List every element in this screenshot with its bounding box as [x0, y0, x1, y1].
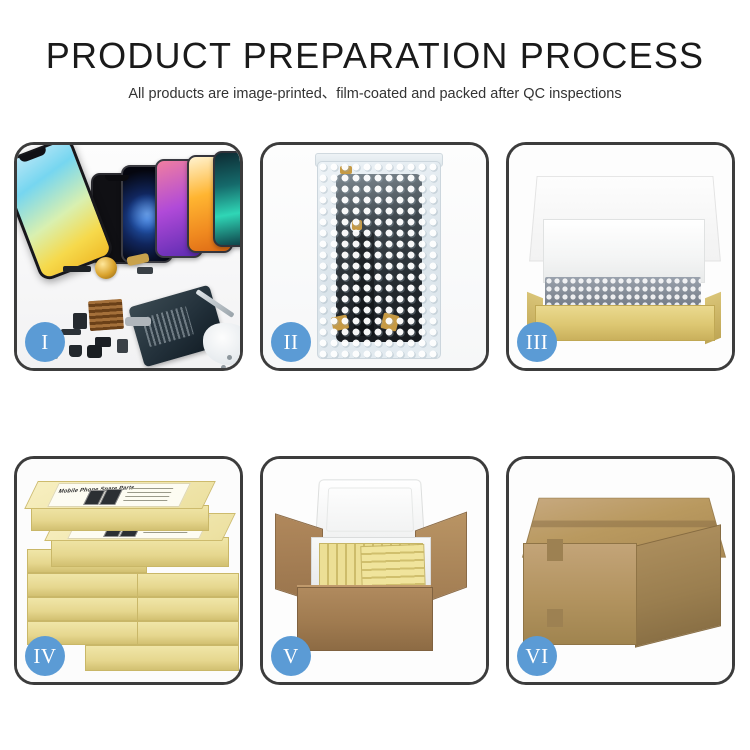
- retail-box-label-1: Mobile Phone Spare Parts: [47, 483, 191, 507]
- carton-front-panel: [297, 587, 433, 651]
- page-title: PRODUCT PREPARATION PROCESS: [0, 36, 750, 76]
- spare-part-taptic-engine: [87, 345, 102, 358]
- carton-front-face: [523, 543, 637, 645]
- page-header: PRODUCT PREPARATION PROCESS All products…: [0, 0, 750, 104]
- step-badge-4: IV: [25, 636, 65, 676]
- box-front-yellow: [535, 305, 715, 341]
- step-badge-2: II: [271, 322, 311, 362]
- step-badge-1: I: [25, 322, 65, 362]
- carton-tape-upper: [547, 539, 563, 561]
- process-step-panel-5[interactable]: V: [260, 456, 489, 685]
- spare-part-connector: [137, 267, 153, 274]
- process-step-panel-3[interactable]: III: [506, 142, 735, 371]
- spare-part-silver-bracket: [125, 317, 151, 326]
- step-badge-5: V: [271, 636, 311, 676]
- page-subtitle: All products are image-printed、film-coat…: [0, 86, 750, 103]
- spare-part-chip-grid: [88, 299, 124, 331]
- process-step-panel-2[interactable]: II: [260, 142, 489, 371]
- spare-part-camera-ring: [69, 345, 82, 357]
- bubble-wrap-bag-image: [317, 161, 441, 359]
- lcd-connector-top: [340, 166, 352, 174]
- carton-tape-lower: [547, 609, 563, 627]
- foam-sheet-white: [543, 219, 705, 283]
- foam-lid-white: [315, 479, 425, 543]
- step-badge-3: III: [517, 322, 557, 362]
- process-step-grid: I II III: [14, 142, 736, 732]
- process-step-panel-4[interactable]: Mobile Phone Spare Parts Mobile Phone Sp…: [14, 456, 243, 685]
- spare-part-strip: [63, 266, 91, 272]
- process-step-panel-1[interactable]: I: [14, 142, 243, 371]
- lcd-screen-image: [336, 174, 422, 342]
- spare-part-gold-disc: [95, 257, 117, 279]
- lcd-connector-mid: [352, 220, 362, 230]
- phone-teal-gradient-image: [213, 151, 240, 247]
- packed-yellow-boxes-row-2: [360, 544, 425, 590]
- lcd-flex-cable: [354, 232, 374, 336]
- process-step-panel-6[interactable]: VI: [506, 456, 735, 685]
- spare-part-button: [117, 339, 128, 353]
- step-badge-6: VI: [517, 636, 557, 676]
- spare-part-cable: [61, 329, 81, 335]
- spare-part-module: [73, 313, 87, 329]
- carton-right-face: [635, 524, 721, 647]
